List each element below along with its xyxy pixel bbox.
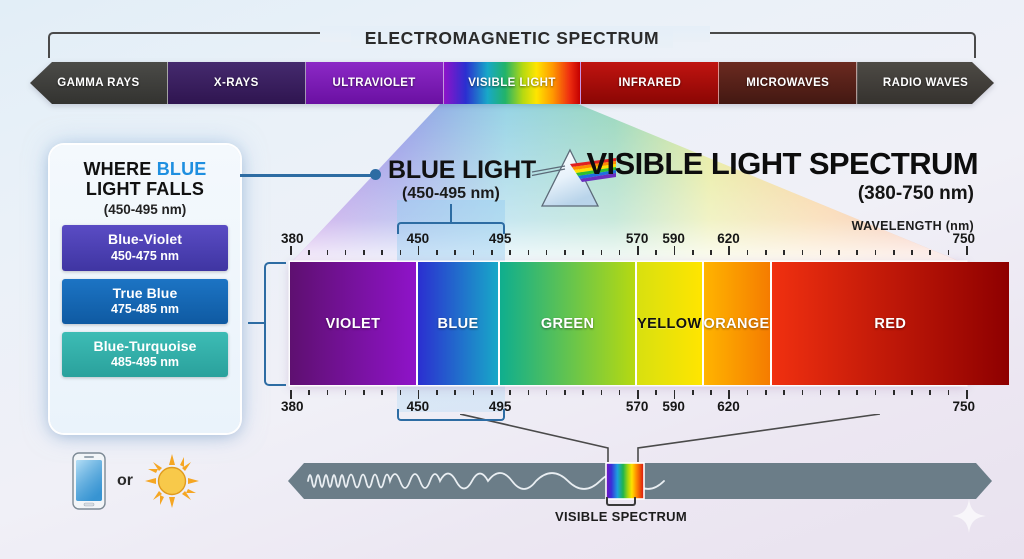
axis-tick xyxy=(491,390,493,395)
spectrum-band-blue[interactable]: BLUE xyxy=(418,262,500,385)
blue-bracket-stem xyxy=(450,204,453,224)
axis-tick xyxy=(692,250,694,255)
axis-tick xyxy=(546,250,548,255)
card-title-highlight: BLUE xyxy=(157,159,207,179)
em-band-label: INFRARED xyxy=(619,77,682,89)
axis-tick xyxy=(345,250,347,255)
em-band-label: VISIBLE LIGHT xyxy=(468,77,556,89)
axis-tick xyxy=(966,390,968,399)
axis-tick xyxy=(436,250,438,255)
axis-tick xyxy=(728,246,730,255)
axis-tick xyxy=(400,250,402,255)
axis-tick xyxy=(893,250,895,255)
axis-tick xyxy=(473,250,475,255)
axis-tick xyxy=(290,246,292,255)
axis-tick xyxy=(911,250,913,255)
axis-tick xyxy=(929,250,931,255)
axis-tick xyxy=(619,250,621,255)
em-band-label: GAMMA RAYS xyxy=(57,77,139,89)
em-spectrum-title-text: ELECTROMAGNETIC SPECTRUM xyxy=(351,28,673,48)
axis-tick xyxy=(418,246,420,255)
axis-tick xyxy=(783,250,785,255)
spectrum-band-green[interactable]: GREEN xyxy=(500,262,637,385)
axis-tick-label: 750 xyxy=(952,399,975,414)
subband-name: Blue-Turquoise xyxy=(66,339,224,354)
axis-tick-label: 380 xyxy=(281,231,304,246)
axis-tick xyxy=(765,250,767,255)
em-band-infrared[interactable]: INFRARED xyxy=(581,62,719,104)
visible-spectrum-marker-bracket xyxy=(606,497,636,506)
card-to-spectrum-bracket-stem xyxy=(248,322,266,324)
axis-tick xyxy=(509,390,511,395)
axis-tick-label: 590 xyxy=(662,231,685,246)
subband-range: 485-495 nm xyxy=(66,355,224,369)
axis-tick xyxy=(820,390,822,395)
axis-tick xyxy=(345,390,347,395)
spectrum-band-label: VIOLET xyxy=(326,316,381,332)
spectrum-axis-bottom: 380450495570590620750 xyxy=(290,390,966,391)
blue-subband-blue-turquoise[interactable]: Blue-Turquoise 485-495 nm xyxy=(62,332,228,377)
axis-tick xyxy=(546,390,548,395)
visible-spectrum-leader-lines xyxy=(460,414,880,462)
axis-tick xyxy=(381,390,383,395)
axis-tick xyxy=(838,390,840,395)
axis-tick xyxy=(473,390,475,395)
axis-tick xyxy=(856,390,858,395)
axis-tick-label: 620 xyxy=(717,399,740,414)
light-source-row: or xyxy=(72,452,200,510)
card-to-spectrum-bracket xyxy=(264,262,286,386)
subband-range: 450-475 nm xyxy=(66,249,224,263)
em-spectrum-title: ELECTROMAGNETIC SPECTRUM xyxy=(0,28,1024,49)
axis-tick xyxy=(838,250,840,255)
axis-tick xyxy=(948,390,950,395)
axis-tick xyxy=(966,246,968,255)
spectrum-band-label: ORANGE xyxy=(704,316,770,332)
visible-light-spectrum-title: VISIBLE LIGHT SPECTRUM xyxy=(586,146,978,182)
spectrum-band-label: GREEN xyxy=(541,316,595,332)
em-band-gamma-rays[interactable]: GAMMA RAYS xyxy=(30,62,168,104)
visible-light-spectrum-range: (380-750 nm) xyxy=(858,183,974,205)
axis-tick xyxy=(528,390,530,395)
axis-tick xyxy=(802,250,804,255)
axis-tick xyxy=(728,390,730,399)
visible-spectrum-marker-label: VISIBLE SPECTRUM xyxy=(555,509,687,524)
axis-tick xyxy=(564,390,566,395)
axis-tick xyxy=(564,250,566,255)
axis-tick-label: 750 xyxy=(952,231,975,246)
subband-range: 475-485 nm xyxy=(66,302,224,316)
blue-light-bracket-top xyxy=(397,222,505,234)
em-band-label: MICROWAVES xyxy=(746,77,829,89)
spectrum-band-label: BLUE xyxy=(437,316,478,332)
axis-tick xyxy=(582,250,584,255)
axis-tick xyxy=(528,250,530,255)
axis-tick-label: 570 xyxy=(626,231,649,246)
card-title-suffix: LIGHT FALLS xyxy=(86,179,204,199)
axis-tick xyxy=(601,250,603,255)
em-band-microwaves[interactable]: MICROWAVES xyxy=(719,62,857,104)
axis-tick xyxy=(655,250,657,255)
axis-tick xyxy=(875,250,877,255)
axis-tick xyxy=(491,250,493,255)
spectrum-axis-top: 380450495570590620750 xyxy=(290,254,966,255)
card-range: (450-495 nm) xyxy=(62,202,228,217)
axis-tick xyxy=(856,250,858,255)
axis-tick xyxy=(308,390,310,395)
axis-tick xyxy=(582,390,584,395)
axis-tick xyxy=(820,250,822,255)
where-blue-light-falls-card: WHERE BLUE LIGHT FALLS (450-495 nm) Blue… xyxy=(50,145,240,433)
axis-tick xyxy=(509,250,511,255)
spectrum-band-orange[interactable]: ORANGE xyxy=(704,262,772,385)
em-band-ultraviolet[interactable]: ULTRAVIOLET xyxy=(306,62,444,104)
spectrum-band-label: RED xyxy=(874,316,906,332)
axis-tick xyxy=(875,390,877,395)
em-band-label: X-RAYS xyxy=(214,77,259,89)
axis-tick xyxy=(381,250,383,255)
sun-icon xyxy=(144,453,200,509)
axis-tick-label: 570 xyxy=(626,399,649,414)
axis-tick-label: 380 xyxy=(281,399,304,414)
card-title: WHERE BLUE LIGHT FALLS xyxy=(62,159,228,199)
spectrum-band-violet[interactable]: VIOLET xyxy=(290,262,418,385)
smartphone-icon xyxy=(72,452,106,510)
axis-tick xyxy=(674,390,676,399)
axis-tick xyxy=(637,390,639,399)
sparkle-icon xyxy=(952,499,986,533)
axis-tick xyxy=(327,250,329,255)
callout-connector-dot xyxy=(370,169,381,180)
em-band-visible-light[interactable]: VISIBLE LIGHT xyxy=(444,62,582,104)
axis-tick xyxy=(454,250,456,255)
blue-light-bracket-bottom xyxy=(397,409,505,421)
card-title-prefix: WHERE xyxy=(83,159,156,179)
axis-tick xyxy=(692,390,694,395)
axis-tick xyxy=(308,250,310,255)
visible-spectrum-bar: VIOLETBLUEGREENYELLOWORANGERED xyxy=(290,262,966,385)
infographic-canvas: ELECTROMAGNETIC SPECTRUM GAMMA RAYS X-RA… xyxy=(0,0,1024,559)
subband-name: Blue-Violet xyxy=(66,232,224,247)
wavelength-axis-label: WAVELENGTH (nm) xyxy=(852,219,974,233)
axis-tick xyxy=(655,390,657,395)
blue-subband-true-blue[interactable]: True Blue 475-485 nm xyxy=(62,279,228,324)
axis-tick xyxy=(710,250,712,255)
callout-connector-line xyxy=(240,174,375,177)
wavelength-wave-diagram xyxy=(288,459,992,503)
axis-tick xyxy=(436,390,438,395)
subband-name: True Blue xyxy=(66,286,224,301)
axis-tick xyxy=(802,390,804,395)
axis-tick xyxy=(363,390,365,395)
blue-light-callout-title: BLUE LIGHT xyxy=(388,156,536,185)
em-spectrum-bar: GAMMA RAYS X-RAYS ULTRAVIOLET VISIBLE LI… xyxy=(30,62,994,104)
axis-tick-label: 590 xyxy=(662,399,685,414)
spectrum-band-yellow[interactable]: YELLOW xyxy=(637,262,703,385)
em-band-label: ULTRAVIOLET xyxy=(333,77,416,89)
axis-tick xyxy=(747,250,749,255)
blue-subband-blue-violet[interactable]: Blue-Violet 450-475 nm xyxy=(62,225,228,270)
axis-tick xyxy=(674,246,676,255)
axis-tick xyxy=(327,390,329,395)
spectrum-band-red[interactable]: RED xyxy=(772,262,1010,385)
axis-tick xyxy=(911,390,913,395)
blue-light-callout-range: (450-495 nm) xyxy=(402,185,500,203)
axis-tick xyxy=(710,390,712,395)
axis-tick xyxy=(929,390,931,395)
axis-tick xyxy=(418,390,420,399)
axis-tick xyxy=(290,390,292,399)
axis-tick xyxy=(783,390,785,395)
axis-tick xyxy=(601,390,603,395)
axis-tick xyxy=(637,246,639,255)
em-band-x-rays[interactable]: X-RAYS xyxy=(168,62,306,104)
axis-tick xyxy=(400,390,402,395)
axis-tick xyxy=(948,250,950,255)
em-band-radio-waves[interactable]: RADIO WAVES xyxy=(857,62,994,104)
axis-tick xyxy=(765,390,767,395)
spectrum-band-label: YELLOW xyxy=(637,316,701,332)
or-label: or xyxy=(117,472,133,490)
axis-tick xyxy=(893,390,895,395)
axis-tick xyxy=(747,390,749,395)
axis-tick xyxy=(619,390,621,395)
axis-tick xyxy=(363,250,365,255)
axis-tick xyxy=(454,390,456,395)
axis-tick-label: 620 xyxy=(717,231,740,246)
em-band-label: RADIO WAVES xyxy=(883,77,968,89)
